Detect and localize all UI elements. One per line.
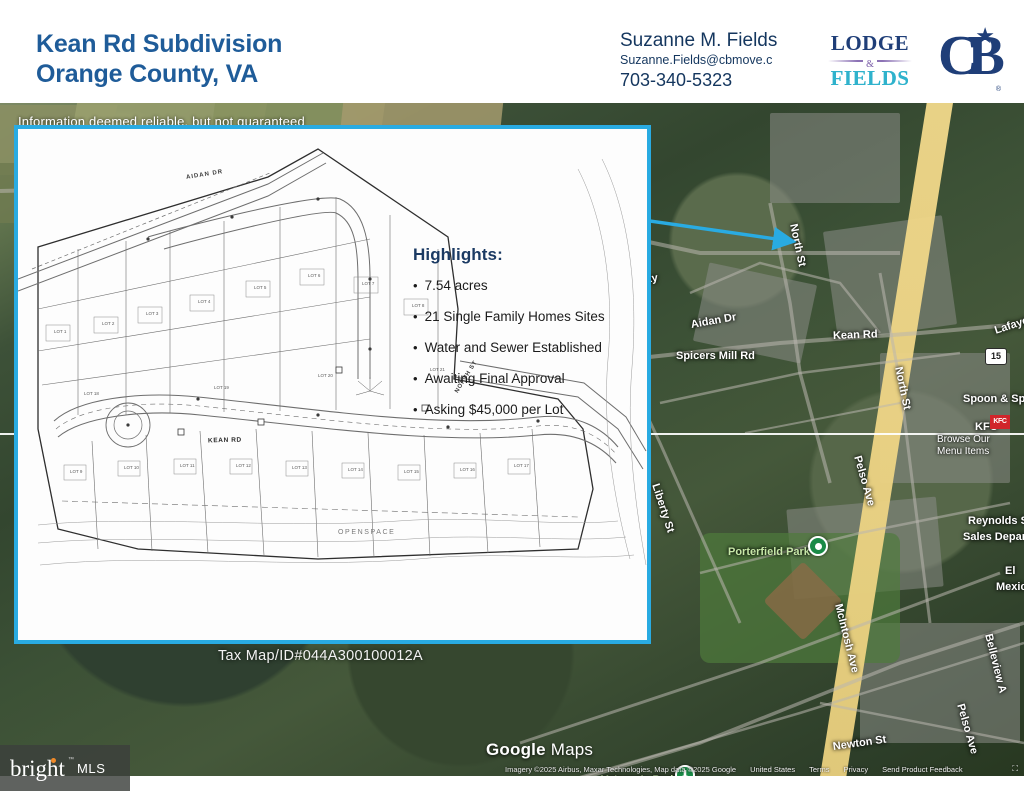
- highlight-item: •21 Single Family Homes Sites: [413, 308, 651, 325]
- attribution-terms-link[interactable]: Terms: [809, 765, 829, 774]
- highlight-item: •Water and Sewer Established: [413, 339, 651, 356]
- flyer-page: Kean Rd Subdivision Orange County, VA Su…: [0, 0, 1024, 791]
- trademark-icon: ™: [68, 757, 74, 763]
- logo-text-lodge: LODGE: [824, 33, 916, 54]
- registered-trademark-icon: ®: [996, 86, 1001, 93]
- highlight-text: 7.54 acres: [425, 277, 488, 294]
- bullet-icon: •: [413, 308, 418, 325]
- attribution-imagery: Imagery ©2025 Airbus, Maxar Technologies…: [505, 765, 736, 774]
- map-poi-label: Porterfield Park: [728, 546, 810, 558]
- flyer-header: Kean Rd Subdivision Orange County, VA Su…: [0, 0, 1024, 103]
- bright-dot-icon: [51, 758, 56, 763]
- route-shield-15: 15: [985, 348, 1007, 365]
- plat-lot-label: LOT 14: [348, 467, 363, 472]
- highlight-item: •7.54 acres: [413, 277, 651, 294]
- tax-map-caption: Tax Map/ID#044A300100012A: [218, 648, 423, 664]
- bright-wordmark: bright: [10, 757, 65, 780]
- map-business-label: Browse Our: [937, 434, 990, 445]
- plat-lot-label: LOT 1: [54, 329, 66, 334]
- bright-mls-watermark: bright ™ MLS: [0, 745, 130, 791]
- google-wordmark: Google: [486, 740, 546, 759]
- mls-text: MLS: [77, 761, 106, 776]
- plat-lot-label: LOT 17: [514, 463, 529, 468]
- logo-ampersand: &: [863, 59, 877, 70]
- title-line-1: Kean Rd Subdivision: [36, 29, 282, 59]
- agent-contact-block: Suzanne M. Fields Suzanne.Fields@cbmove.…: [620, 30, 820, 92]
- map-business-label: Mexic: [996, 581, 1024, 593]
- plat-lot-label: LOT 5: [254, 285, 266, 290]
- plat-lot-label: LOT 20: [318, 373, 333, 378]
- google-maps-logo[interactable]: Google Maps: [486, 740, 593, 760]
- title-line-2: Orange County, VA: [36, 59, 282, 89]
- logo-ampersand-row: &: [824, 54, 916, 67]
- plat-lot-label: LOT 19: [214, 385, 229, 390]
- plat-lot-label: LOT 2: [102, 321, 114, 326]
- plat-lot-label: LOT 3: [146, 311, 158, 316]
- attribution-privacy-link[interactable]: Privacy: [844, 765, 869, 774]
- highlight-text: Water and Sewer Established: [425, 339, 602, 356]
- star-icon: ★: [975, 25, 995, 47]
- plat-lot-label: LOT 15: [404, 469, 419, 474]
- map-business-label: El: [1005, 565, 1015, 577]
- logo-text-fields: FIELDS: [824, 67, 916, 89]
- plat-lot-label: LOT 11: [180, 463, 195, 468]
- agent-email[interactable]: Suzanne.Fields@cbmove.c: [620, 52, 825, 68]
- agent-name: Suzanne M. Fields: [620, 30, 820, 52]
- bullet-icon: •: [413, 339, 418, 356]
- map-street-label: Kean Rd: [833, 328, 878, 342]
- highlights-panel: Highlights: •7.54 acres•21 Single Family…: [413, 245, 651, 432]
- highlight-item: •Asking $45,000 per Lot: [413, 401, 651, 418]
- plat-lot-label: LOT 18: [84, 391, 99, 396]
- fullscreen-icon[interactable]: ⛶: [1012, 764, 1018, 774]
- plat-label-openspace: OPENSPACE: [338, 529, 395, 536]
- map-street-label: Spicers Mill Rd: [676, 350, 755, 362]
- attribution-region[interactable]: United States: [750, 765, 795, 774]
- attribution-feedback-link[interactable]: Send Product Feedback: [882, 765, 962, 774]
- plat-lot-label: LOT 12: [236, 463, 251, 468]
- plat-lot-label: LOT 7: [362, 281, 374, 286]
- plat-lot-label: LOT 9: [70, 469, 82, 474]
- coldwell-banker-logo: CB ★ ®: [938, 25, 1002, 97]
- site-plan-card[interactable]: AIDAN DR KEAN RD NORTH ST OPENSPACE LOT …: [14, 125, 651, 644]
- plat-lot-label: LOT 16: [460, 467, 475, 472]
- highlight-item: •Awaiting Final Approval: [413, 370, 651, 387]
- agent-phone[interactable]: 703-340-5323: [620, 69, 820, 92]
- map-business-label: Reynolds S: [968, 515, 1024, 527]
- highlights-title: Highlights:: [413, 245, 651, 265]
- bullet-icon: •: [413, 370, 418, 387]
- highlight-text: Awaiting Final Approval: [425, 370, 565, 387]
- map-business-label: Sales Depar: [963, 531, 1024, 543]
- plat-lot-label: LOT 4: [198, 299, 210, 304]
- plat-lot-label: LOT 13: [292, 465, 307, 470]
- highlight-text: 21 Single Family Homes Sites: [425, 308, 605, 325]
- bullet-icon: •: [413, 401, 418, 418]
- page-title: Kean Rd Subdivision Orange County, VA: [36, 29, 282, 89]
- plat-lot-label: LOT 10: [124, 465, 139, 470]
- kfc-logo-icon: KFC: [990, 415, 1010, 429]
- bright-text: bright: [10, 756, 65, 781]
- plat-lot-label: LOT 6: [308, 273, 320, 278]
- map-pin-porterfield-park[interactable]: [808, 536, 828, 556]
- bullet-icon: •: [413, 277, 418, 294]
- lodge-and-fields-logo: LODGE & FIELDS: [824, 33, 916, 91]
- plat-label-kean-rd: KEAN RD: [208, 437, 242, 445]
- highlight-text: Asking $45,000 per Lot: [425, 401, 564, 418]
- map-business-label: Menu Items: [937, 446, 989, 457]
- highlights-list: •7.54 acres•21 Single Family Homes Sites…: [413, 277, 651, 418]
- footer-strip: [0, 776, 1024, 791]
- map-business-label: Spoon & Spi: [963, 393, 1024, 405]
- maps-wordmark: Maps: [551, 740, 593, 759]
- map-attribution-bar: Imagery ©2025 Airbus, Maxar Technologies…: [0, 762, 1024, 776]
